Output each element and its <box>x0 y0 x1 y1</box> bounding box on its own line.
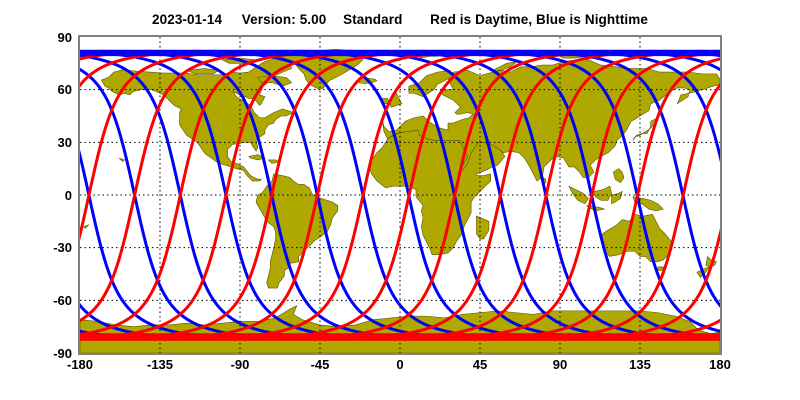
title-version: Version: 5.00 <box>242 12 327 27</box>
x-tick-label: 0 <box>370 358 430 371</box>
x-tick-label: -90 <box>210 358 270 371</box>
x-tick-label: 180 <box>690 358 750 371</box>
title-mode: Standard <box>343 12 402 27</box>
plot-frame <box>78 35 722 355</box>
y-tick-label: 90 <box>38 31 72 44</box>
chart-title: 2023-01-14 Version: 5.00 Standard Red is… <box>0 12 800 27</box>
x-tick-label: 135 <box>610 358 670 371</box>
y-tick-label: 30 <box>38 136 72 149</box>
y-tick-label: 0 <box>38 189 72 202</box>
y-axis-labels: 9060300-30-60-90 <box>34 35 72 355</box>
title-legend: Red is Daytime, Blue is Nighttime <box>430 12 648 27</box>
y-tick-label: -30 <box>38 241 72 254</box>
y-tick-label: -60 <box>38 294 72 307</box>
x-axis-labels: -180-135-90-4504590135180 <box>78 358 722 378</box>
x-tick-label: -180 <box>50 358 110 371</box>
x-tick-label: 90 <box>530 358 590 371</box>
ground-tracks-layer <box>80 37 720 353</box>
x-tick-label: -45 <box>290 358 350 371</box>
title-date: 2023-01-14 <box>152 12 222 27</box>
y-tick-label: 60 <box>38 83 72 96</box>
map-canvas <box>80 37 720 353</box>
x-tick-label: 45 <box>450 358 510 371</box>
x-tick-label: -135 <box>130 358 190 371</box>
satellite-ground-track-figure: 2023-01-14 Version: 5.00 Standard Red is… <box>0 0 800 400</box>
